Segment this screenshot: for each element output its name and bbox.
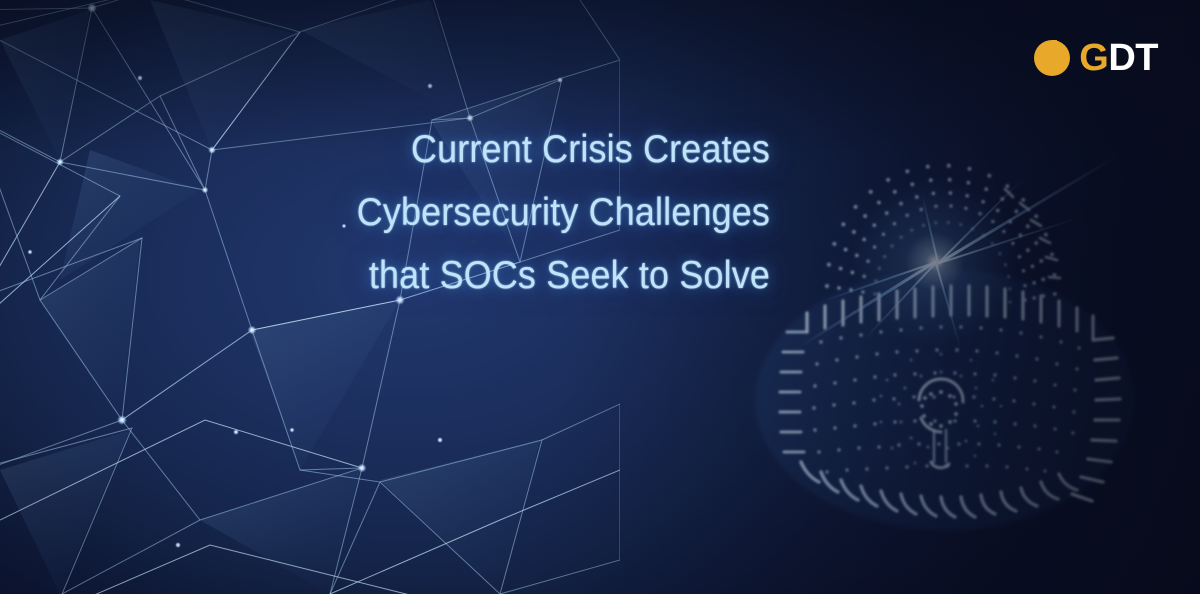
logo-letter-g: G bbox=[1079, 39, 1108, 77]
hero-banner: Current Crisis Creates Cybersecurity Cha… bbox=[0, 0, 1200, 594]
gdt-wordmark: GDT bbox=[1079, 39, 1158, 77]
headline-line-2: Cybersecurity Challenges bbox=[338, 181, 770, 244]
gdt-circle-mark-icon bbox=[1032, 38, 1072, 78]
logo-letters-dt: DT bbox=[1108, 39, 1158, 77]
gdt-logo[interactable]: GDT bbox=[1032, 36, 1158, 80]
headline-line-3: that SOCs Seek to Solve bbox=[338, 244, 770, 307]
headline-line-1: Current Crisis Creates bbox=[338, 118, 770, 181]
headline-block: Current Crisis Creates Cybersecurity Cha… bbox=[300, 118, 770, 307]
